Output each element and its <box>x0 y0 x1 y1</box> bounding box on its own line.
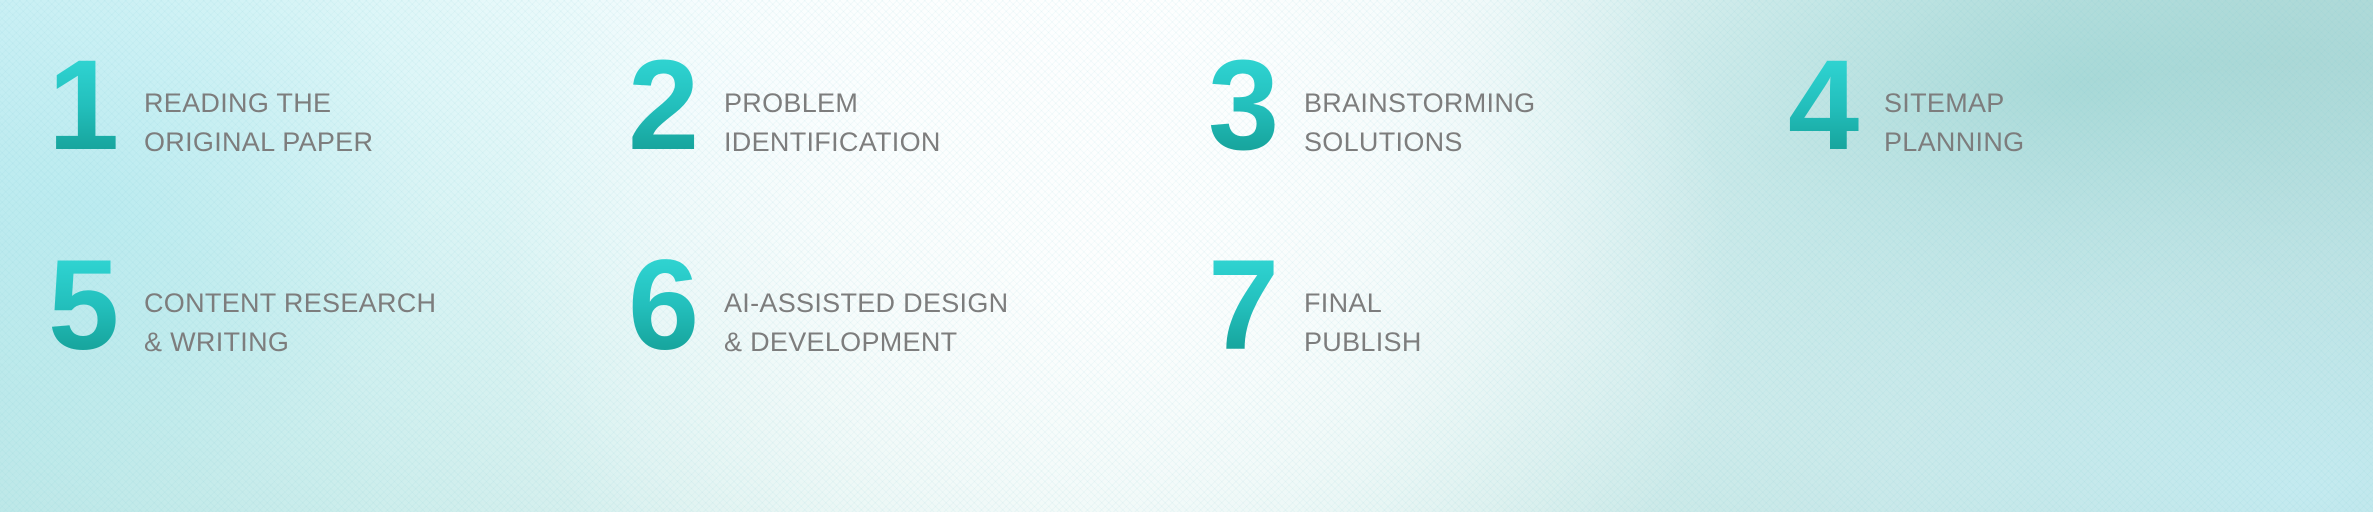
process-step-3: 3 BRAINSTORMING SOLUTIONS <box>1208 42 1788 242</box>
step-label-line-1: SITEMAP <box>1884 90 2024 117</box>
step-label-4: SITEMAP PLANNING <box>1884 42 2024 156</box>
step-label-line-2: & WRITING <box>144 329 436 356</box>
step-number-6: 6 <box>628 242 724 370</box>
step-number-5: 5 <box>48 242 144 370</box>
step-label-line-2: ORIGINAL PAPER <box>144 129 373 156</box>
process-steps-grid: 1 READING THE ORIGINAL PAPER 2 PROBLEM I… <box>0 0 2373 442</box>
step-label-5: CONTENT RESEARCH & WRITING <box>144 242 436 356</box>
step-label-line-1: PROBLEM <box>724 90 941 117</box>
step-label-line-2: SOLUTIONS <box>1304 129 1535 156</box>
process-step-1: 1 READING THE ORIGINAL PAPER <box>48 42 628 242</box>
step-number-2: 2 <box>628 42 724 170</box>
process-step-6: 6 AI-ASSISTED DESIGN & DEVELOPMENT <box>628 242 1208 442</box>
step-label-line-2: & DEVELOPMENT <box>724 329 1008 356</box>
step-label-line-1: BRAINSTORMING <box>1304 90 1535 117</box>
step-number-1: 1 <box>48 42 144 170</box>
process-step-5: 5 CONTENT RESEARCH & WRITING <box>48 242 628 442</box>
step-label-line-1: AI-ASSISTED DESIGN <box>724 290 1008 317</box>
process-step-2: 2 PROBLEM IDENTIFICATION <box>628 42 1208 242</box>
process-steps-banner: 1 READING THE ORIGINAL PAPER 2 PROBLEM I… <box>0 0 2373 512</box>
step-label-7: FINAL PUBLISH <box>1304 242 1422 356</box>
step-label-line-1: CONTENT RESEARCH <box>144 290 436 317</box>
step-number-7: 7 <box>1208 242 1304 370</box>
step-label-line-2: IDENTIFICATION <box>724 129 941 156</box>
process-step-7: 7 FINAL PUBLISH <box>1208 242 1788 442</box>
step-label-2: PROBLEM IDENTIFICATION <box>724 42 941 156</box>
process-step-4: 4 SITEMAP PLANNING <box>1788 42 2368 242</box>
step-label-line-1: FINAL <box>1304 290 1422 317</box>
step-number-4: 4 <box>1788 42 1884 170</box>
step-label-line-2: PLANNING <box>1884 129 2024 156</box>
step-number-3: 3 <box>1208 42 1304 170</box>
step-label-line-2: PUBLISH <box>1304 329 1422 356</box>
step-label-6: AI-ASSISTED DESIGN & DEVELOPMENT <box>724 242 1008 356</box>
step-label-line-1: READING THE <box>144 90 373 117</box>
step-label-3: BRAINSTORMING SOLUTIONS <box>1304 42 1535 156</box>
step-label-1: READING THE ORIGINAL PAPER <box>144 42 373 156</box>
